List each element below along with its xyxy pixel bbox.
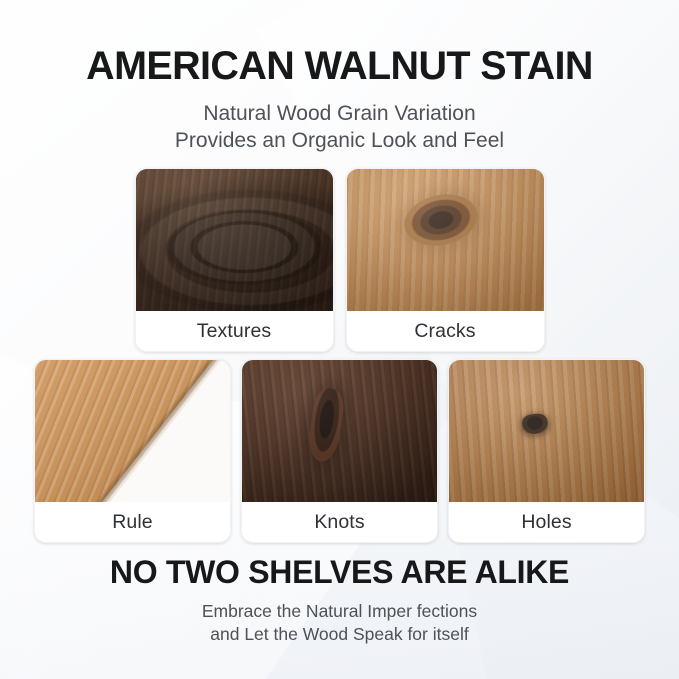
feature-card-cracks: Cracks <box>346 168 545 352</box>
feature-card-textures: Textures <box>135 168 334 352</box>
swatch-holes <box>449 360 644 502</box>
footer-headline: NO TWO SHELVES ARE ALIKE <box>0 554 679 591</box>
plank-edge-shadow <box>35 360 230 502</box>
page-title: AMERICAN WALNUT STAIN <box>0 47 679 87</box>
feature-row-top: Textures Cracks <box>0 168 679 352</box>
feature-row-bottom: Rule Knots Holes <box>0 359 679 543</box>
promo-image: AMERICAN WALNUT STAIN Natural Wood Grain… <box>0 0 679 679</box>
feature-card-caption: Cracks <box>347 311 544 351</box>
wood-texture-light-grain <box>347 169 544 311</box>
footer-subtitle-line-2: and Let the Wood Speak for itself <box>0 623 679 646</box>
wood-texture-dark-grain <box>136 169 333 311</box>
subtitle-line-2: Provides an Organic Look and Feel <box>0 127 679 154</box>
footer-subtitle-line-1: Embrace the Natural Imper fections <box>0 600 679 623</box>
subtitle-line-1: Natural Wood Grain Variation <box>0 100 679 127</box>
wood-texture-dark-knotty <box>242 360 437 502</box>
feature-card-caption: Textures <box>136 311 333 351</box>
feature-card-caption: Holes <box>449 502 644 542</box>
feature-card-knots: Knots <box>241 359 438 543</box>
feature-card-caption: Knots <box>242 502 437 542</box>
content-layer: AMERICAN WALNUT STAIN Natural Wood Grain… <box>0 0 679 679</box>
footer-subtitle: Embrace the Natural Imper fections and L… <box>0 600 679 646</box>
swatch-cracks <box>347 169 544 311</box>
swatch-textures <box>136 169 333 311</box>
feature-card-caption: Rule <box>35 502 230 542</box>
hole-icon <box>521 413 549 436</box>
swatch-rule <box>35 360 230 502</box>
feature-card-holes: Holes <box>448 359 645 543</box>
feature-grid: Textures Cracks <box>0 168 679 543</box>
subtitle: Natural Wood Grain Variation Provides an… <box>0 100 679 154</box>
wood-texture-medium-grain <box>449 360 644 502</box>
swatch-knots <box>242 360 437 502</box>
knot-icon <box>400 188 483 252</box>
knot-icon <box>306 387 346 464</box>
feature-card-rule: Rule <box>34 359 231 543</box>
